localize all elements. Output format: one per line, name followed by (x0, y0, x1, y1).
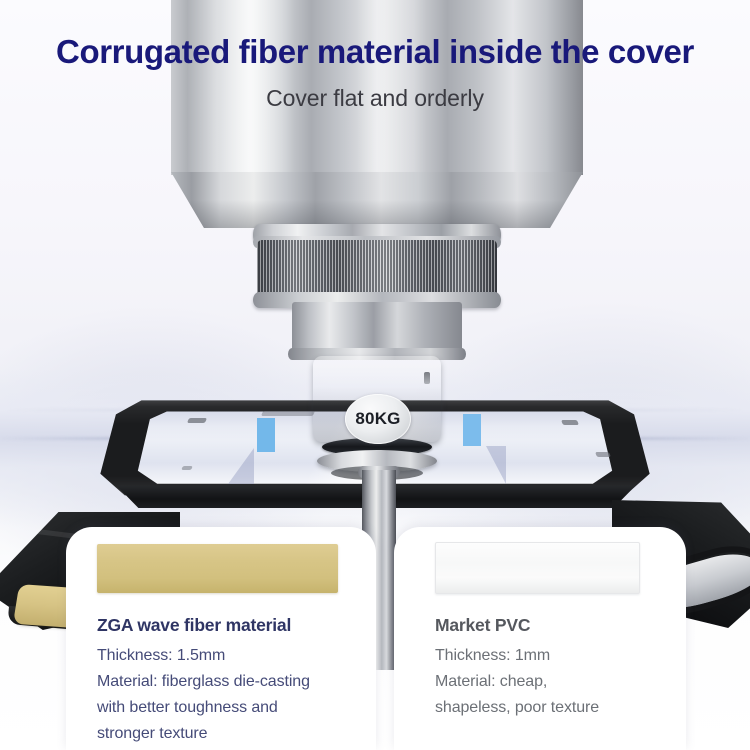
comparison-cards: ZGA wave fiber material Thickness: 1.5mm… (0, 0, 750, 750)
card-zga-line-1: Material: fiberglass die-casting (97, 669, 365, 695)
card-pvc-body: Thickness: 1mm Material: cheap, shapeles… (435, 643, 665, 721)
card-zga-line-2: with better toughness and (97, 695, 365, 721)
card-zga-fiber: ZGA wave fiber material Thickness: 1.5mm… (66, 527, 376, 750)
page-title: Corrugated fiber material inside the cov… (0, 33, 750, 71)
card-market-pvc: Market PVC Thickness: 1mm Material: chea… (394, 527, 686, 750)
white-pvc-swatch (435, 542, 640, 594)
card-pvc-line-1: Material: cheap, (435, 669, 665, 695)
card-zga-title: ZGA wave fiber material (97, 615, 291, 636)
card-pvc-title: Market PVC (435, 615, 530, 636)
page-subtitle: Cover flat and orderly (0, 85, 750, 112)
product-feature-image: Corrugated fiber material inside the cov… (0, 0, 750, 750)
card-pvc-line-0: Thickness: 1mm (435, 643, 665, 669)
card-zga-body: Thickness: 1.5mm Material: fiberglass di… (97, 643, 365, 747)
card-zga-line-0: Thickness: 1.5mm (97, 643, 365, 669)
gold-fiber-swatch (97, 544, 338, 593)
card-pvc-line-2: shapeless, poor texture (435, 695, 665, 721)
card-zga-line-3: stronger texture (97, 721, 365, 747)
